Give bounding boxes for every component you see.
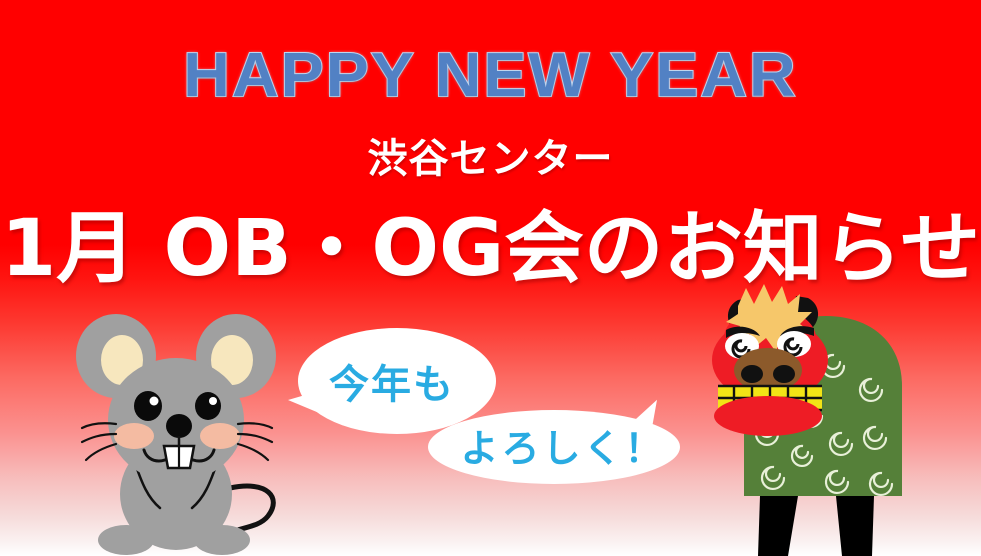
organization-name: 渋谷センター	[0, 126, 981, 184]
lion-leg-left	[758, 496, 798, 556]
mouse-eye-highlight-right	[209, 397, 217, 405]
new-year-announcement-poster: HAPPY NEW YEAR 渋谷センター 1月 OB・OG会のお知らせ	[0, 0, 981, 556]
shishimai-lion-dancer	[702, 282, 948, 556]
page-title: HAPPY NEW YEAR	[0, 40, 981, 111]
speech-bubble-body	[428, 410, 680, 484]
mouse-nose	[166, 414, 192, 438]
mouse-eye-right	[195, 392, 221, 420]
mouse-mascot	[72, 312, 304, 556]
mouse-eye-highlight-left	[150, 397, 159, 406]
mouse-eye-left	[134, 391, 162, 421]
lion-lower-jaw	[714, 396, 822, 436]
lion-nostril-left	[741, 365, 763, 383]
speech-bubble-lion: よろしく！	[428, 396, 698, 484]
lion-nostril-right	[773, 365, 795, 383]
mouse-cheek-left	[114, 423, 154, 449]
mouse-cheek-right	[200, 423, 240, 449]
lion-leg-right	[836, 496, 874, 556]
